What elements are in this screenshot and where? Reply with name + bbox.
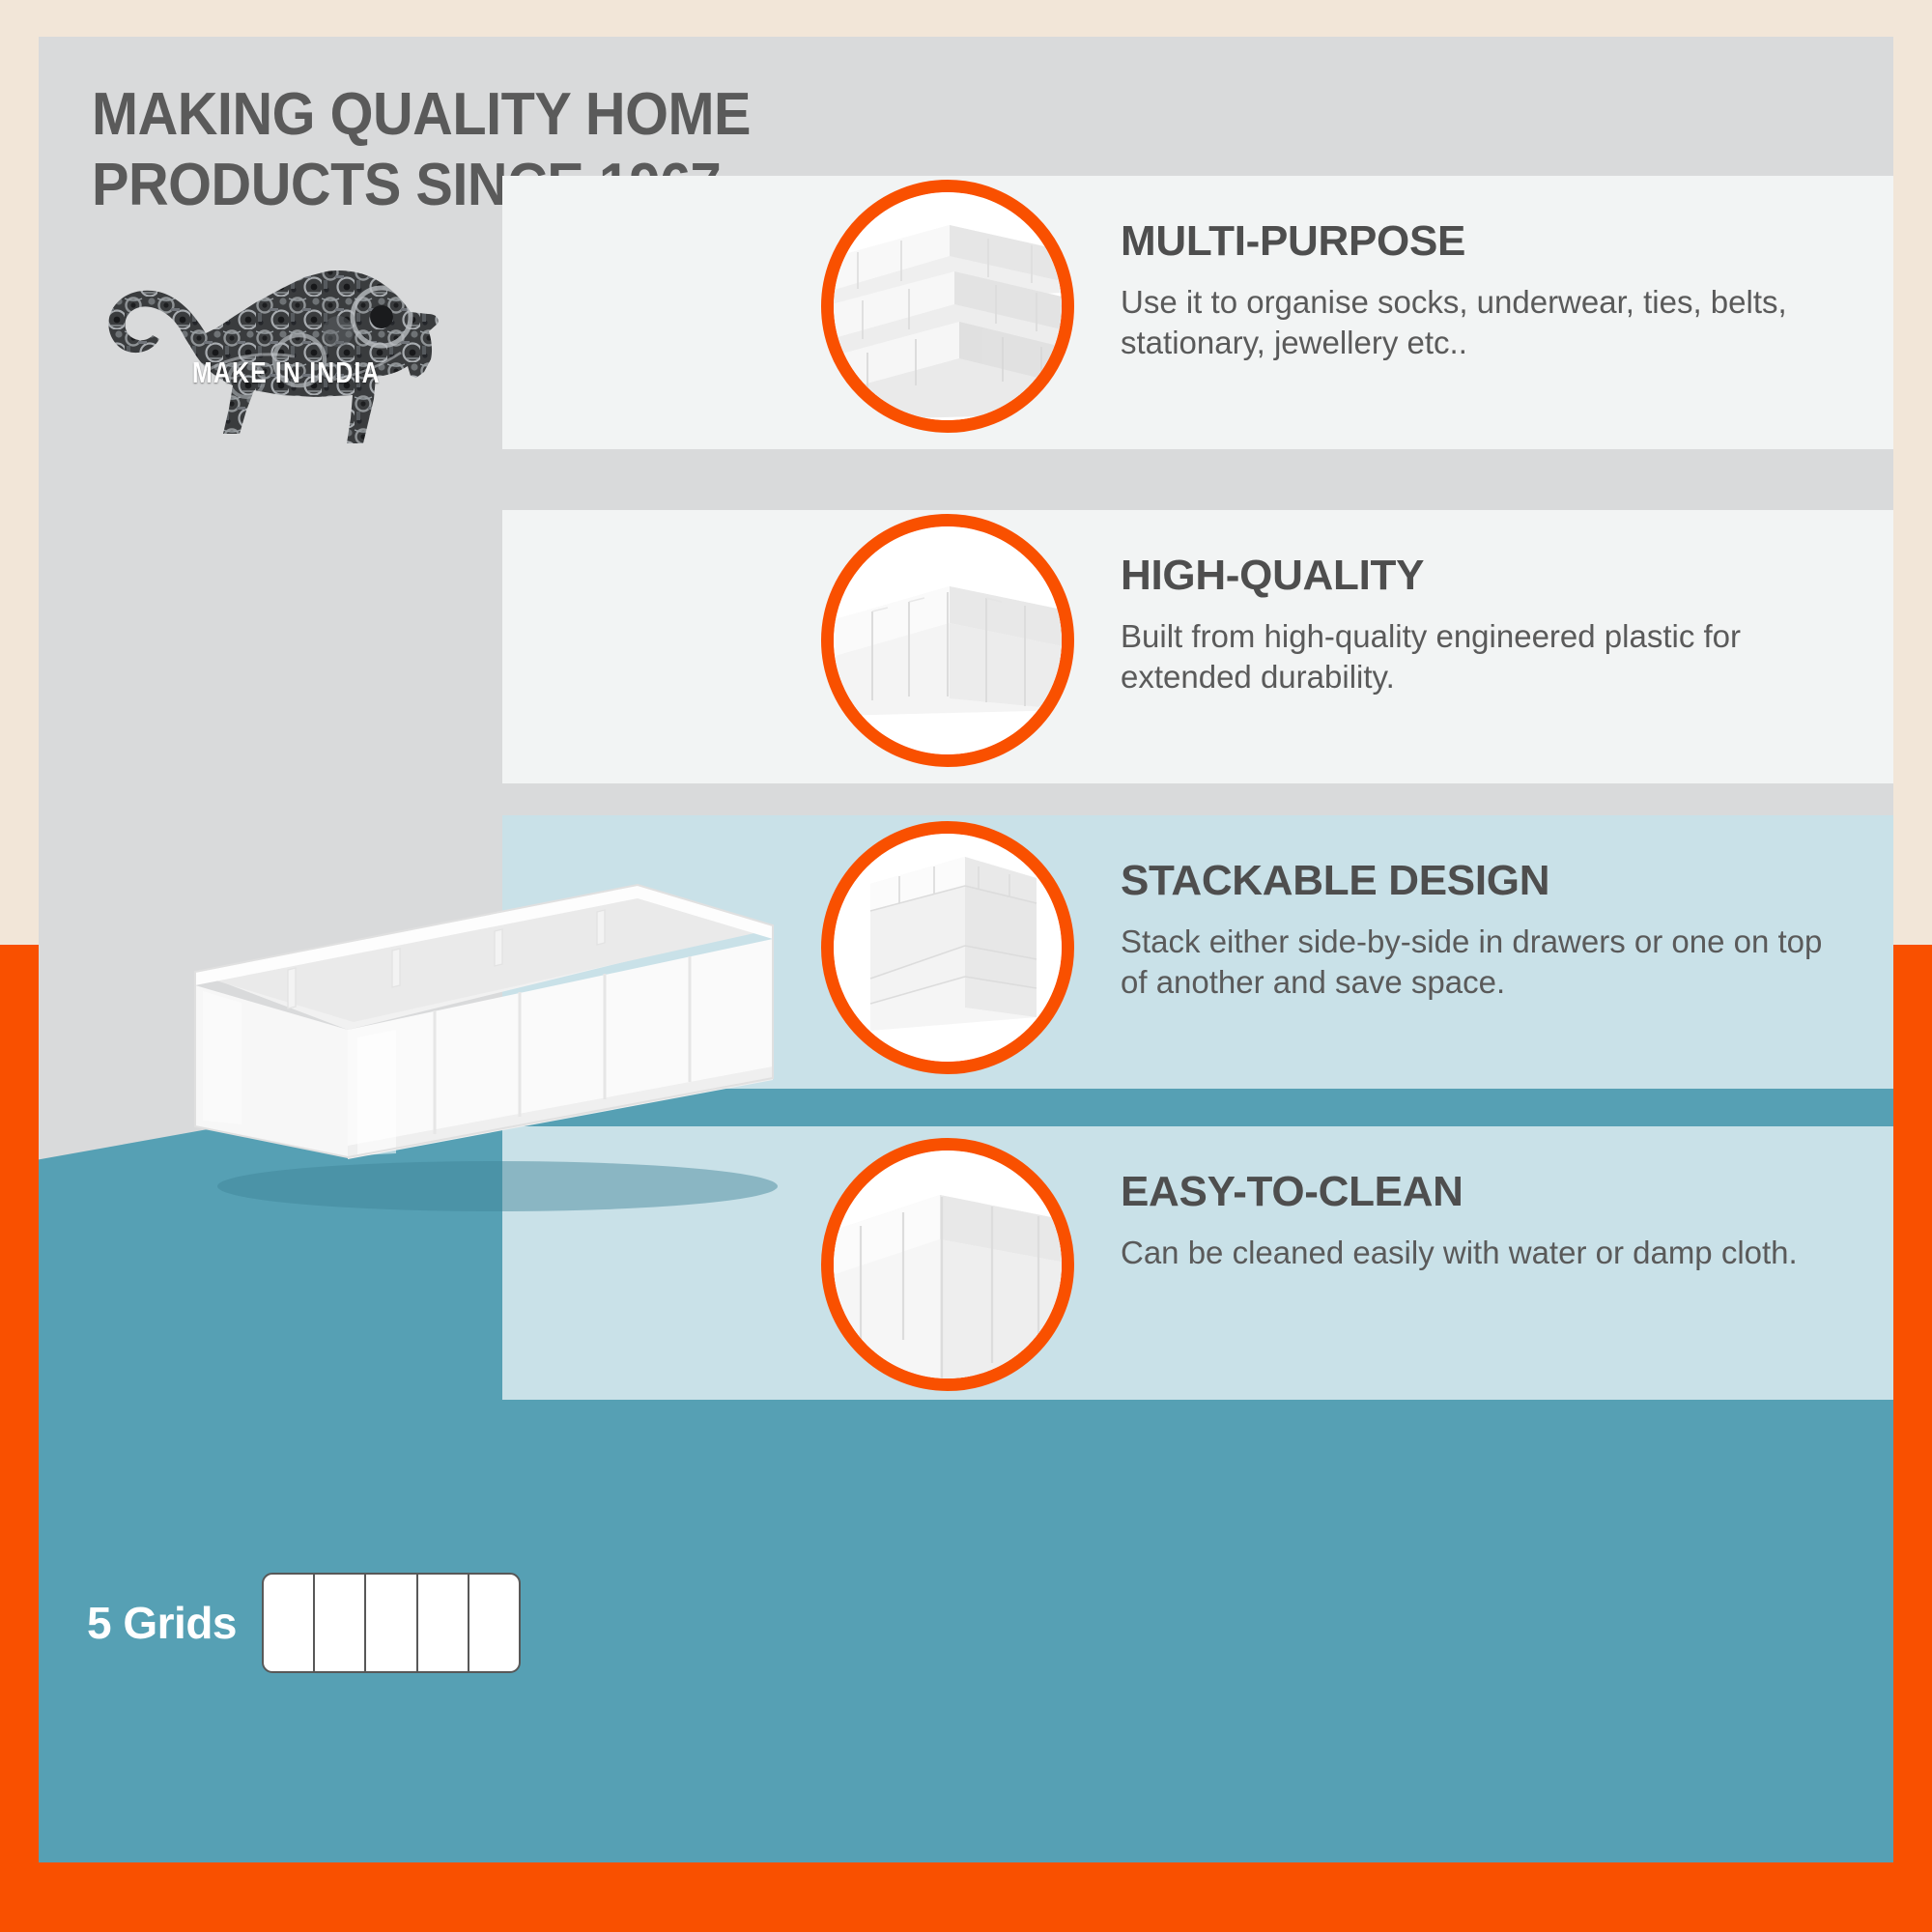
border-bottom-orange [0,1862,1932,1932]
border-left-orange [0,945,39,1932]
feature-card-multi-purpose: MULTI-PURPOSE Use it to organise socks, … [502,176,1893,449]
infographic-canvas: MAKING QUALITY HOME PRODUCTS SINCE 1967 [39,37,1893,1862]
feature-description: Use it to organise socks, underwear, tie… [1121,282,1835,363]
grids-badge: 5 Grids [87,1573,521,1673]
feature-description: Built from high-quality engineered plast… [1121,616,1835,697]
feature-title: EASY-TO-CLEAN [1121,1171,1835,1213]
white-5-grid-organiser-photo [155,867,811,1215]
product-hero-image [155,867,811,1215]
grid-cell [264,1575,315,1671]
feature-image-high-quality [821,514,1074,767]
feature-image-easy-to-clean [821,1138,1074,1391]
single-organiser-photo [834,526,1062,754]
feature-description: Stack either side-by-side in drawers or … [1121,922,1835,1003]
feature-text-block: HIGH-QUALITY Built from high-quality eng… [1121,554,1835,697]
make-in-india-label: MAKE IN INDIA [192,355,381,390]
feature-title: HIGH-QUALITY [1121,554,1835,597]
border-top-cream [0,0,1932,37]
feature-text-block: MULTI-PURPOSE Use it to organise socks, … [1121,220,1835,363]
infographic-root: MAKING QUALITY HOME PRODUCTS SINCE 1967 [0,0,1932,1932]
make-in-india-logo: MAKE IN INDIA [92,264,497,457]
border-right-cream [1893,0,1932,945]
grid-cell [315,1575,366,1671]
grids-label: 5 Grids [87,1597,237,1649]
feature-title: STACKABLE DESIGN [1121,860,1835,902]
feature-image-stackable-design [821,821,1074,1074]
grids-diagram-icon [262,1573,521,1673]
feature-description: Can be cleaned easily with water or damp… [1121,1233,1835,1273]
border-left-cream [0,0,39,945]
feature-text-block: EASY-TO-CLEAN Can be cleaned easily with… [1121,1171,1835,1273]
feature-title: MULTI-PURPOSE [1121,220,1835,263]
grid-cell [469,1575,519,1671]
grid-cell [366,1575,417,1671]
grid-cell [418,1575,469,1671]
border-right-orange [1893,945,1932,1932]
stacked-organisers-photo [834,192,1062,420]
feature-image-multi-purpose [821,180,1074,433]
three-stacked-boxes-photo [834,834,1062,1062]
feature-text-block: STACKABLE DESIGN Stack either side-by-si… [1121,860,1835,1003]
organiser-closeup-photo [834,1151,1062,1378]
feature-card-high-quality: HIGH-QUALITY Built from high-quality eng… [502,510,1893,783]
